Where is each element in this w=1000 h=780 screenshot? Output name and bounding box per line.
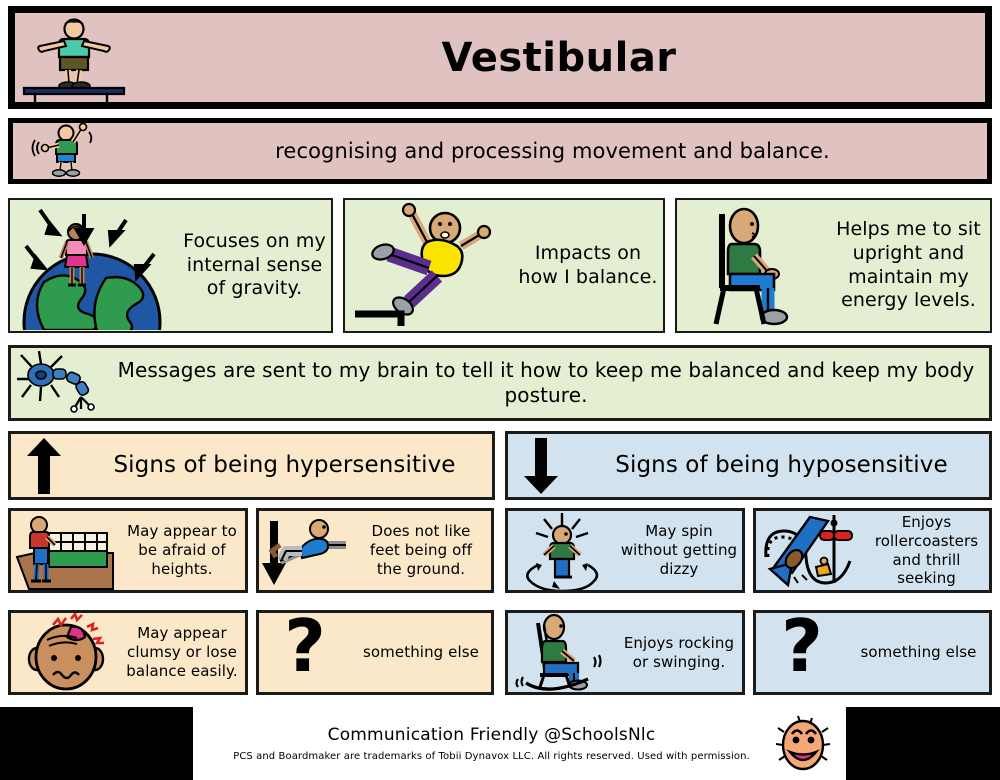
neuron-bar: Messages are sent to my brain to tell it… <box>8 345 992 421</box>
sign-card-heights: May appear to be afraid of heights. <box>8 508 248 593</box>
person-lying-back-icon <box>259 511 351 590</box>
person-balancing-icon <box>13 123 118 179</box>
person-falling-icon <box>345 200 513 331</box>
rocking-chair-icon <box>508 613 616 692</box>
sign-card-text: something else <box>848 643 989 662</box>
sign-card-something-else-hyper: ? something else <box>256 610 494 695</box>
person-on-ledge-icon <box>11 511 119 590</box>
fact-card-balance: Impacts on how I balance. <box>343 198 665 333</box>
person-spinning-icon <box>508 511 616 590</box>
footer-credit: Communication Friendly @SchoolsNlc <box>223 725 760 745</box>
hypersensitive-heading-text: Signs of being hypersensitive <box>77 451 492 480</box>
sign-card-spinning: May spin without getting dizzy <box>505 508 745 593</box>
hyposensitive-heading-text: Signs of being hyposensitive <box>574 451 989 480</box>
page-title: Vestibular <box>133 33 985 83</box>
balance-beam-icon <box>15 13 133 102</box>
gravity-earth-icon <box>10 200 178 331</box>
sign-card-text: Does not like feet being off the ground. <box>351 522 491 578</box>
footer-trademark: PCS and Boardmaker are trademarks of Tob… <box>223 751 760 762</box>
fact-card-text: Focuses on my internal sense of gravity. <box>178 230 331 301</box>
fact-card-sitting: Helps me to sit upright and maintain my … <box>675 198 992 333</box>
smiling-face-icon <box>760 712 846 776</box>
footer-panel: Communication Friendly @SchoolsNlc PCS a… <box>193 707 846 780</box>
sign-card-text: something else <box>351 643 491 662</box>
question-mark-icon: ? <box>259 613 351 692</box>
footer-text-group: Communication Friendly @SchoolsNlc PCS a… <box>193 725 760 762</box>
sign-card-text: Enjoys rocking or swinging. <box>616 634 742 672</box>
arrow-up-icon <box>11 434 77 497</box>
sign-card-text: Enjoys rollercoasters and thrill seeking <box>864 513 989 588</box>
fact-card-gravity: Focuses on my internal sense of gravity. <box>8 198 333 333</box>
fact-card-text: Impacts on how I balance. <box>513 242 663 290</box>
sign-card-text: May appear clumsy or lose balance easily… <box>119 624 245 680</box>
poster-page: Vestibular recognising and <box>0 0 1000 780</box>
neuron-icon <box>11 348 103 418</box>
neuron-text: Messages are sent to my brain to tell it… <box>103 358 989 408</box>
sign-card-text: May appear to be afraid of heights. <box>119 522 245 578</box>
header-bar: Vestibular <box>8 6 992 109</box>
person-sitting-chair-icon <box>677 200 827 331</box>
rollercoaster-icon <box>756 511 864 590</box>
svg-text:?: ? <box>781 613 823 688</box>
sign-card-something-else-hypo: ? something else <box>753 610 992 695</box>
sign-card-rollercoasters: Enjoys rollercoasters and thrill seeking <box>753 508 992 593</box>
dizzy-head-icon <box>11 613 119 692</box>
sign-card-rocking: Enjoys rocking or swinging. <box>505 610 745 695</box>
subtitle-text: recognising and processing movement and … <box>118 138 987 164</box>
subtitle-bar: recognising and processing movement and … <box>8 118 992 184</box>
hypersensitive-heading-bar: Signs of being hypersensitive <box>8 431 495 500</box>
sign-card-feet-off-ground: Does not like feet being off the ground. <box>256 508 494 593</box>
hyposensitive-heading-bar: Signs of being hyposensitive <box>505 431 992 500</box>
fact-card-text: Helps me to sit upright and maintain my … <box>827 218 990 313</box>
question-mark-icon: ? <box>756 613 848 692</box>
svg-text:?: ? <box>284 613 326 688</box>
arrow-down-icon <box>508 434 574 497</box>
sign-card-clumsy: May appear clumsy or lose balance easily… <box>8 610 248 695</box>
sign-card-text: May spin without getting dizzy <box>616 522 742 578</box>
